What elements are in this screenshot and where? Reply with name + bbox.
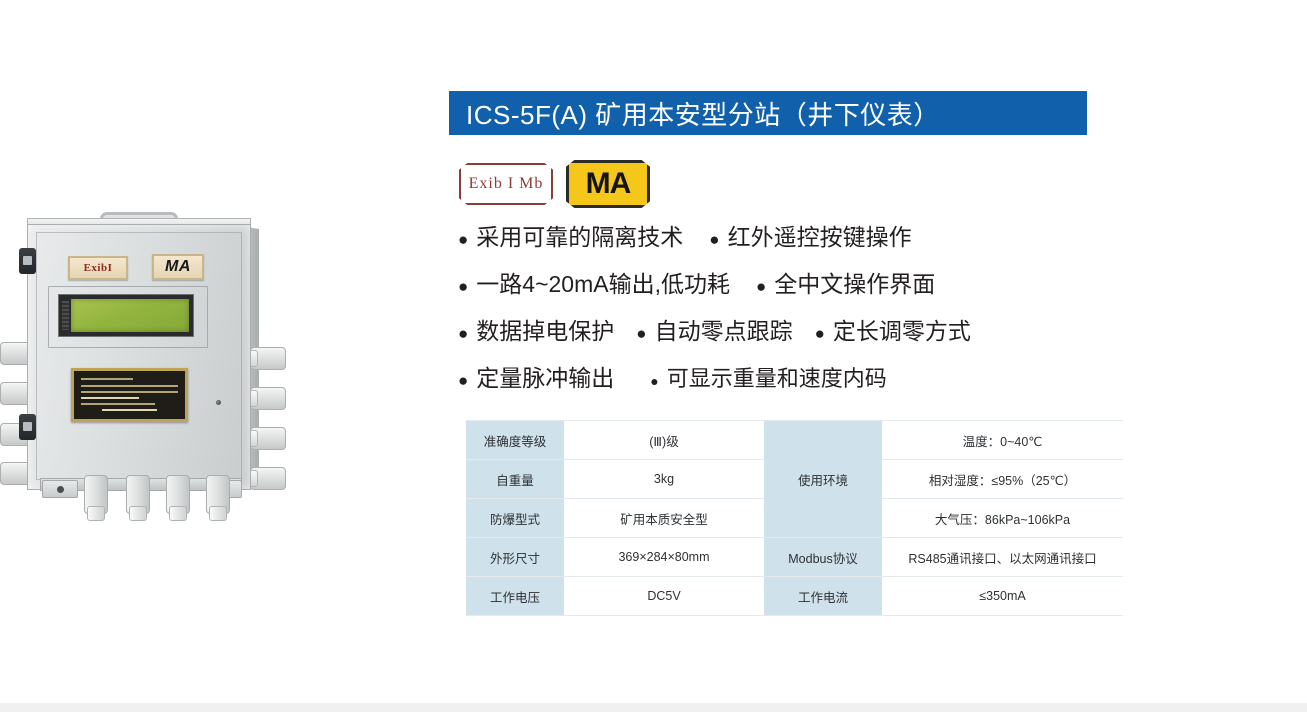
- env-label: Modbus协议: [764, 538, 882, 577]
- feature-row: ● 数据掉电保护 ● 自动零点跟踪 ● 定长调零方式: [458, 312, 1118, 359]
- lid-bevel: [36, 232, 242, 480]
- feature-list: ● 采用可靠的隔离技术 ● 红外遥控按键操作 ● 一路4~20mA输出,低功耗 …: [458, 218, 1118, 406]
- feature-row: ● 一路4~20mA输出,低功耗 ● 全中文操作界面: [458, 265, 1118, 312]
- feature-text: 定量脉冲输出: [476, 359, 614, 393]
- table-row: 工作电压 DC5V 工作电流 ≤350mA: [466, 577, 1123, 616]
- product-nameplate: [71, 368, 188, 422]
- feature-item: ● 数据掉电保护: [458, 312, 614, 346]
- ma-badge: MA: [566, 160, 650, 208]
- product-datasheet-page: ExibI MA ICS-5: [0, 0, 1307, 712]
- feature-item: ● 自动零点跟踪: [636, 312, 792, 346]
- spec-key: 准确度等级: [466, 421, 564, 460]
- spec-key: 工作电压: [466, 577, 564, 616]
- spec-key: 自重量: [466, 460, 564, 499]
- spec-value: 3kg: [564, 460, 764, 499]
- cable-gland-bottom-2: [126, 475, 150, 514]
- specification-table: 准确度等级 (Ⅲ)级 使用环境 温度：0~40℃ 自重量 3kg 相对湿度：≤9…: [466, 420, 1123, 616]
- feature-text: 采用可靠的隔离技术: [476, 218, 683, 252]
- lid-ma-plate: MA: [152, 254, 204, 280]
- spec-key: 防爆型式: [466, 499, 564, 538]
- cable-gland-right-2: [250, 387, 286, 410]
- bullet-icon: ●: [458, 278, 468, 295]
- feature-row: ● 定量脉冲输出 ● 可显示重量和速度内码: [458, 359, 1118, 406]
- cable-gland-bottom-4: [206, 475, 230, 514]
- feature-item: ● 红外遥控按键操作: [709, 218, 911, 252]
- feature-text: 可显示重量和速度内码: [667, 361, 887, 393]
- env-value: RS485通讯接口、以太网通讯接口: [882, 538, 1123, 577]
- spec-value: (Ⅲ)级: [564, 421, 764, 460]
- latch-upper: [19, 248, 36, 274]
- cable-gland-right-4: [250, 467, 286, 490]
- table-row: 外形尺寸 369×284×80mm Modbus协议 RS485通讯接口、以太网…: [466, 538, 1123, 577]
- feature-row: ● 采用可靠的隔离技术 ● 红外遥控按键操作: [458, 218, 1118, 265]
- feature-text: 数据掉电保护: [476, 312, 614, 346]
- feature-item: ● 全中文操作界面: [756, 265, 935, 299]
- spec-value: 369×284×80mm: [564, 538, 764, 577]
- feature-item: ● 定量脉冲输出: [458, 359, 614, 393]
- feature-item: ● 可显示重量和速度内码: [650, 361, 886, 393]
- bullet-icon: ●: [458, 231, 468, 248]
- enclosure-body: [27, 224, 251, 490]
- cable-gland-right-1: [250, 347, 286, 370]
- cable-gland-bottom-1: [84, 475, 108, 514]
- content-column: ICS-5F(A) 矿用本安型分站（井下仪表） Exib I Mb MA ● 采…: [449, 0, 1149, 712]
- lid-exib-plate: ExibI: [68, 256, 128, 280]
- certification-badges: Exib I Mb MA: [459, 160, 650, 208]
- page-bottom-divider: [0, 703, 1307, 712]
- product-title-bar: ICS-5F(A) 矿用本安型分站（井下仪表）: [449, 91, 1087, 135]
- env-value: 大气压：86kPa~106kPa: [882, 499, 1123, 538]
- spec-value: 矿用本质安全型: [564, 499, 764, 538]
- env-value: 相对湿度：≤95%（25℃）: [882, 460, 1123, 499]
- feature-item: ● 采用可靠的隔离技术: [458, 218, 683, 252]
- feature-text: 全中文操作界面: [774, 265, 935, 299]
- feature-text: 自动零点跟踪: [655, 312, 793, 346]
- feature-text: 一路4~20mA输出,低功耗: [476, 265, 730, 299]
- feature-item: ● 一路4~20mA输出,低功耗: [458, 265, 730, 299]
- spec-value: DC5V: [564, 577, 764, 616]
- page-title: ICS-5F(A) 矿用本安型分站（井下仪表）: [449, 95, 940, 132]
- bullet-icon: ●: [458, 325, 468, 342]
- env-value: 温度：0~40℃: [882, 421, 1123, 460]
- bullet-icon: ●: [458, 372, 468, 389]
- lcd-display: [58, 294, 194, 337]
- feature-text: 红外遥控按键操作: [728, 218, 912, 252]
- spec-key: 外形尺寸: [466, 538, 564, 577]
- latch-lower: [19, 414, 36, 440]
- table-row: 准确度等级 (Ⅲ)级 使用环境 温度：0~40℃: [466, 421, 1123, 460]
- bullet-icon: ●: [709, 231, 719, 248]
- screw-right: [216, 400, 221, 405]
- feature-text: 定长调零方式: [833, 312, 971, 346]
- bullet-icon: ●: [650, 374, 658, 388]
- product-photo: ExibI MA: [0, 210, 320, 540]
- env-label: 工作电流: [764, 577, 882, 616]
- exib-badge: Exib I Mb: [459, 163, 553, 205]
- bullet-icon: ●: [636, 325, 646, 342]
- env-label: 使用环境: [764, 421, 882, 538]
- feature-item: ● 定长调零方式: [815, 312, 971, 346]
- mount-foot-left: [42, 480, 78, 498]
- lcd-ribbon-cable: [62, 301, 69, 330]
- cable-gland-right-3: [250, 427, 286, 450]
- env-value: ≤350mA: [882, 577, 1123, 616]
- bullet-icon: ●: [815, 325, 825, 342]
- cable-gland-bottom-3: [166, 475, 190, 514]
- bullet-icon: ●: [756, 278, 766, 295]
- lcd-screen: [71, 299, 189, 332]
